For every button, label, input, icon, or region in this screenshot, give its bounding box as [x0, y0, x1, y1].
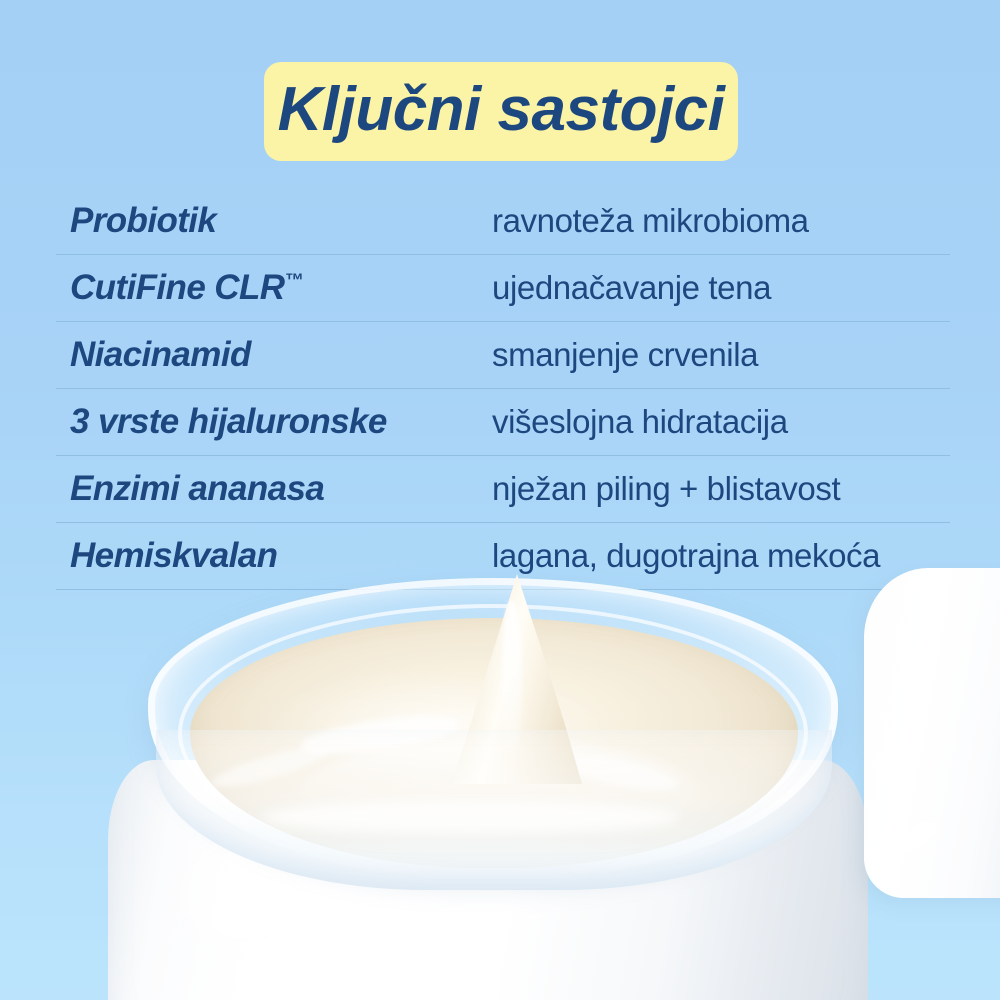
ingredient-name: Enzimi ananasa — [56, 469, 492, 509]
table-row: CutiFine CLR™ ujednačavanje tena — [56, 255, 950, 322]
product-photo — [0, 560, 1000, 1000]
table-row: Enzimi ananasa nježan piling + blistavos… — [56, 456, 950, 523]
ingredient-name: Niacinamid — [56, 335, 492, 375]
jar-glass-front-highlight — [260, 800, 680, 834]
title-badge: Ključni sastojci — [264, 62, 738, 161]
page-title: Ključni sastojci — [278, 79, 725, 141]
ingredient-benefit: ujednačavanje tena — [492, 269, 950, 307]
table-row: 3 vrste hijaluronske višeslojna hidratac… — [56, 389, 950, 456]
ingredient-name-text: Niacinamid — [70, 335, 251, 374]
table-row: Probiotik ravnoteža mikrobioma — [56, 188, 950, 255]
ingredients-table: Probiotik ravnoteža mikrobioma CutiFine … — [56, 188, 950, 590]
ingredient-benefit: ravnoteža mikrobioma — [492, 202, 950, 240]
ingredient-benefit: nježan piling + blistavost — [492, 470, 950, 508]
ingredient-name-text: CutiFine CLR — [70, 268, 284, 307]
ingredient-benefit: višeslojna hidratacija — [492, 403, 950, 441]
trademark-symbol: ™ — [284, 270, 303, 291]
jar-lid — [864, 568, 1000, 898]
ingredient-name: 3 vrste hijaluronske — [56, 402, 492, 442]
promo-graphic: Ključni sastojci Probiotik ravnoteža mik… — [0, 0, 1000, 1000]
ingredient-name-text: Probiotik — [70, 201, 216, 240]
cream-peak-highlight — [502, 600, 522, 750]
ingredient-name: CutiFine CLR™ — [56, 268, 492, 308]
ingredient-name-text: Enzimi ananasa — [70, 469, 324, 508]
table-row: Niacinamid smanjenje crvenila — [56, 322, 950, 389]
ingredient-name-text: 3 vrste hijaluronske — [70, 402, 387, 441]
ingredient-name: Probiotik — [56, 201, 492, 241]
ingredient-benefit: smanjenje crvenila — [492, 336, 950, 374]
